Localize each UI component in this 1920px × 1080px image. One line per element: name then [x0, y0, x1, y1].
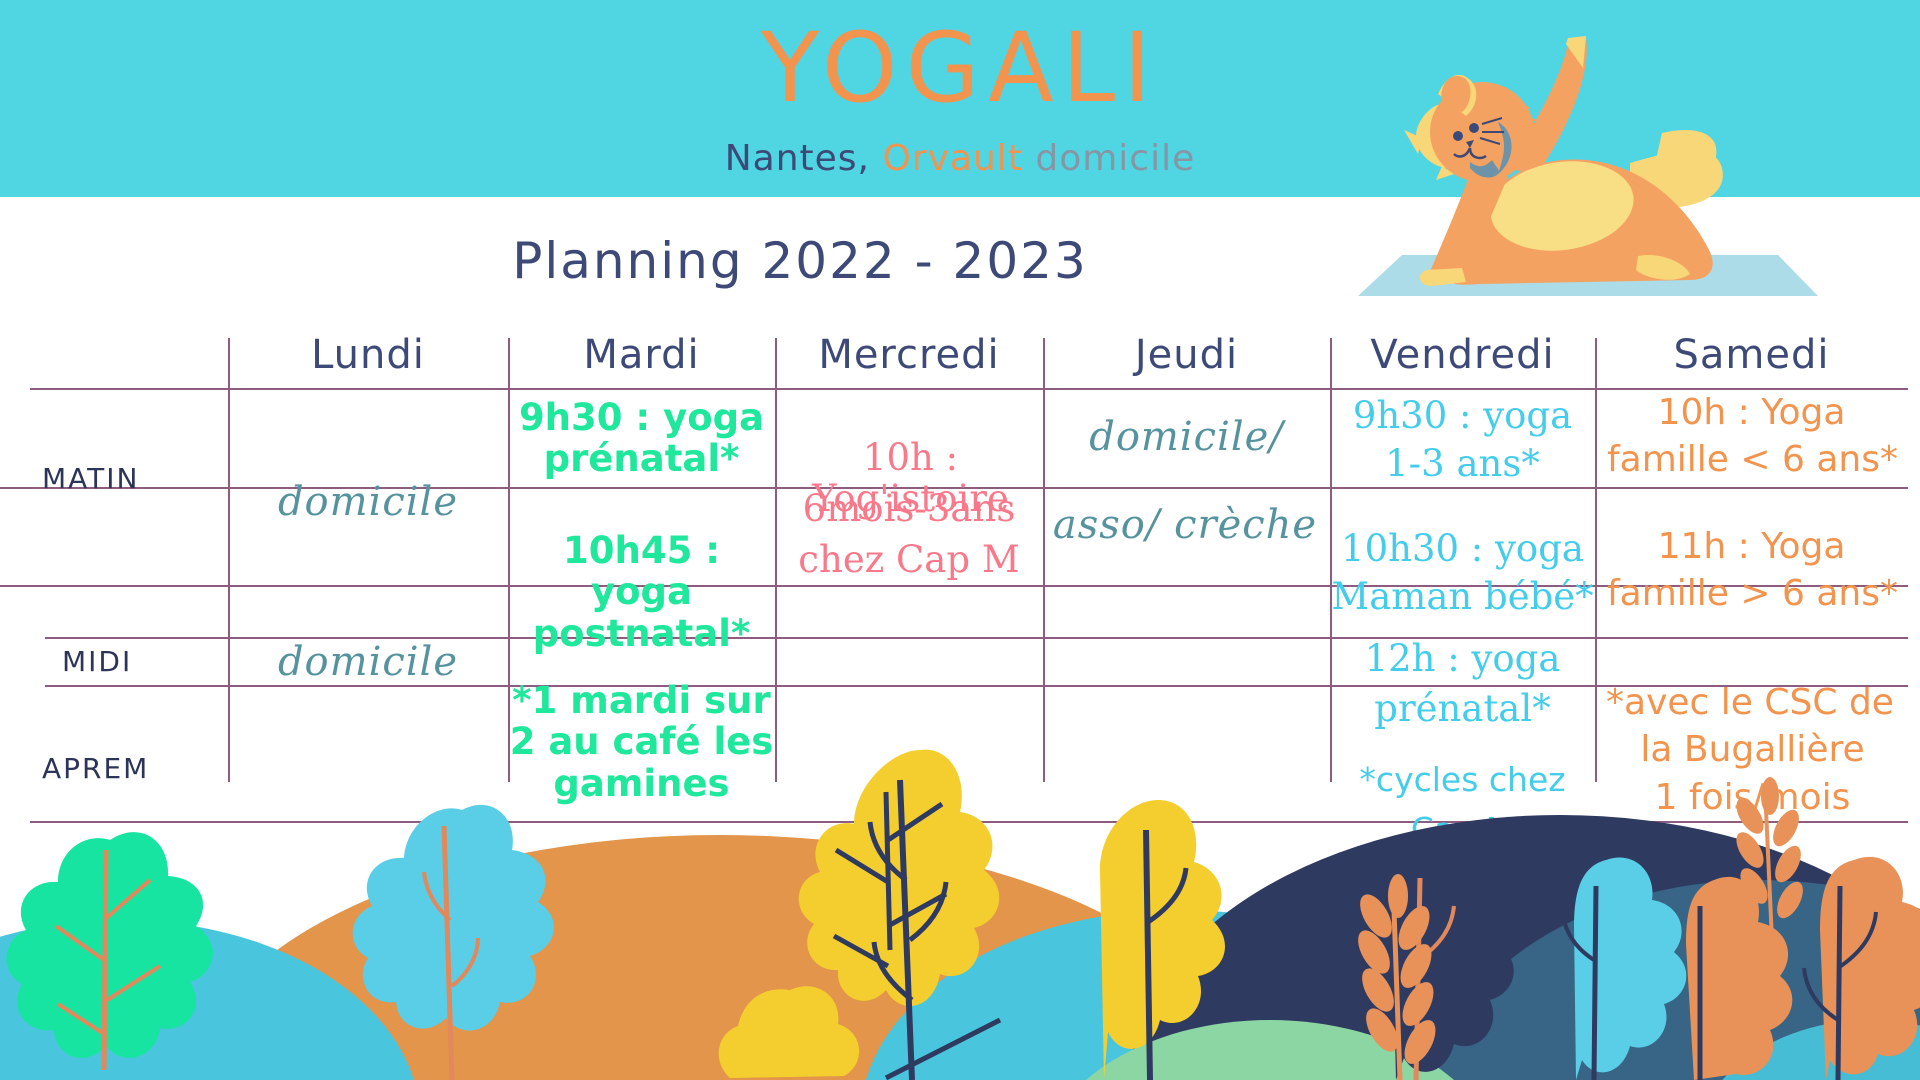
cell-matin-mardi-prenatal: 9h30 : yoga prénatal*: [508, 397, 775, 480]
cell-matin-samedi-line3: 11h : Yoga: [1595, 527, 1908, 567]
cell-matin-jeudi-line2: asso/ crèche: [1035, 503, 1335, 548]
cell-matin-samedi-line4: famille > 6 ans*: [1590, 574, 1915, 614]
cell-matin-vendredi-line1: 9h30 : yoga: [1330, 395, 1595, 436]
day-header-mercredi: Mercredi: [775, 332, 1043, 378]
cell-matin-samedi-line1: 10h : Yoga: [1595, 393, 1908, 433]
cell-matin-lundi: domicile: [228, 480, 508, 525]
cell-matin-jeudi-line1: domicile/: [1043, 415, 1330, 460]
planning-title: Planning 2022 - 2023: [300, 232, 1300, 290]
foliage-decoration: [0, 690, 1920, 1080]
cell-matin-vendredi-line2: 1-3 ans*: [1330, 443, 1595, 484]
day-header-mardi: Mardi: [508, 332, 775, 378]
row-label-matin: MATIN: [42, 462, 139, 495]
grid-hline-1: [30, 388, 1908, 390]
subtitle-town: Orvault: [882, 138, 1022, 179]
cell-matin-samedi-line2: famille < 6 ans*: [1590, 440, 1915, 480]
yogali-schedule-poster: YOGALI Nantes, Orvault domicile: [0, 0, 1920, 1080]
subtitle-mode: domicile: [1035, 138, 1195, 179]
day-header-vendredi: Vendredi: [1330, 332, 1595, 378]
subtitle-city: Nantes,: [725, 138, 870, 179]
cell-matin-mardi-postnatal: 10h45 : yoga postnatal*: [508, 530, 775, 654]
cell-midi-lundi: domicile: [228, 640, 508, 685]
day-header-samedi: Samedi: [1595, 332, 1908, 378]
cell-matin-mercredi-line3: chez Cap M: [775, 539, 1043, 580]
yoga-cat-icon: [1330, 8, 1850, 328]
cell-midi-vendredi: 12h : yoga: [1330, 638, 1595, 679]
cell-matin-mercredi-line2: 6mois-3ans: [775, 488, 1043, 529]
day-header-lundi: Lundi: [228, 332, 508, 378]
cell-matin-vendredi-line4: Maman bébé*: [1330, 576, 1595, 617]
row-label-midi: MIDI: [62, 645, 132, 678]
cell-matin-vendredi-line3: 10h30 : yoga: [1330, 528, 1595, 569]
day-header-jeudi: Jeudi: [1043, 332, 1330, 378]
